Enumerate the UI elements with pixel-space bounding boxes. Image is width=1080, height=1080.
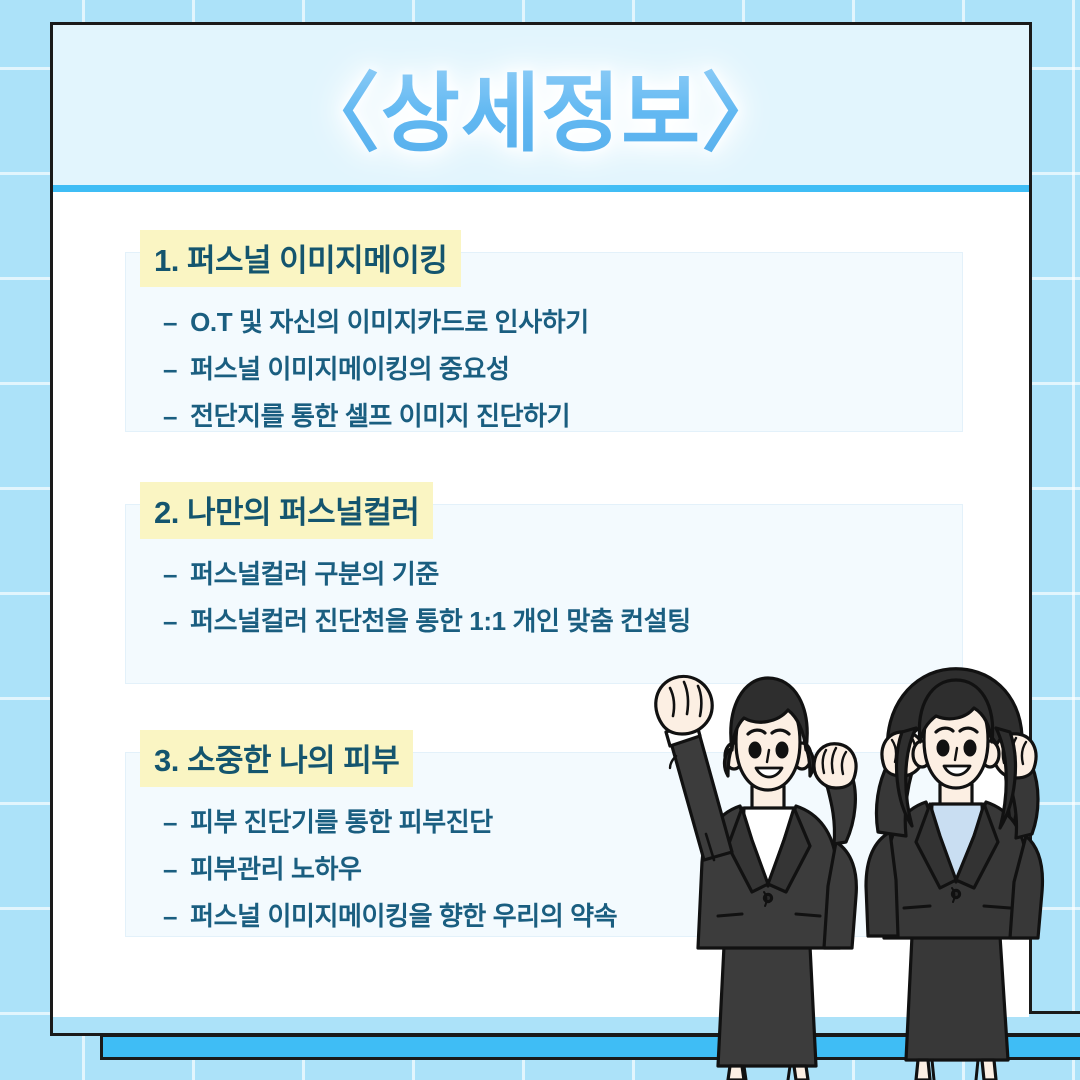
bullet-dash: – <box>163 561 177 587</box>
card-stack-bar-bright <box>100 1034 1080 1060</box>
bullet-text: O.T 및 자신의 이미지카드로 인사하기 <box>190 309 589 335</box>
card-header: 〈상세정보〉 <box>53 25 1029 185</box>
bullet-text: 퍼스널 이미지메이킹을 향한 우리의 약속 <box>190 903 617 929</box>
bullet-text: 피부관리 노하우 <box>190 856 361 882</box>
bullet-dash: – <box>163 809 177 835</box>
bullet-dash: – <box>163 903 177 929</box>
section-1: 1. 퍼스널 이미지메이킹 – O.T 및 자신의 이미지카드로 인사하기 – … <box>125 230 963 450</box>
card-body: 1. 퍼스널 이미지메이킹 – O.T 및 자신의 이미지카드로 인사하기 – … <box>53 192 1029 1017</box>
bullet-text: 퍼스널 이미지메이킹의 중요성 <box>190 356 509 382</box>
bullet-dash: – <box>163 856 177 882</box>
list-item: – 퍼스널 이미지메이킹의 중요성 <box>163 356 963 382</box>
section-1-bullets: – O.T 및 자신의 이미지카드로 인사하기 – 퍼스널 이미지메이킹의 중요… <box>125 309 963 429</box>
list-item: – 퍼스널컬러 구분의 기준 <box>163 561 963 587</box>
bullet-dash: – <box>163 309 177 335</box>
bullet-text: 전단지를 통한 셀프 이미지 진단하기 <box>190 403 570 429</box>
list-item: – 퍼스널 이미지메이킹을 향한 우리의 약속 <box>163 903 963 929</box>
bullet-text: 퍼스널컬러 구분의 기준 <box>190 561 439 587</box>
bullet-text: 피부 진단기를 통한 피부진단 <box>190 809 493 835</box>
section-2-bullets: – 퍼스널컬러 구분의 기준 – 퍼스널컬러 진단천을 통한 1:1 개인 맞춤… <box>125 561 963 634</box>
section-2-heading: 2. 나만의 퍼스널컬러 <box>140 482 433 539</box>
list-item: – 피부관리 노하우 <box>163 856 963 882</box>
list-item: – 전단지를 통한 셀프 이미지 진단하기 <box>163 403 963 429</box>
bullet-dash: – <box>163 608 177 634</box>
list-item: – 퍼스널컬러 진단천을 통한 1:1 개인 맞춤 컨설팅 <box>163 608 963 634</box>
section-3-heading: 3. 소중한 나의 피부 <box>140 730 413 787</box>
bullet-dash: – <box>163 403 177 429</box>
header-divider <box>53 185 1029 192</box>
bullet-dash: – <box>163 356 177 382</box>
section-1-heading: 1. 퍼스널 이미지메이킹 <box>140 230 461 287</box>
list-item: – O.T 및 자신의 이미지카드로 인사하기 <box>163 309 963 335</box>
list-item: – 피부 진단기를 통한 피부진단 <box>163 809 963 835</box>
section-2: 2. 나만의 퍼스널컬러 – 퍼스널컬러 구분의 기준 – 퍼스널컬러 진단천을… <box>125 482 963 655</box>
bullet-text: 퍼스널컬러 진단천을 통한 1:1 개인 맞춤 컨설팅 <box>190 608 691 634</box>
info-card: 〈상세정보〉 1. 퍼스널 이미지메이킹 – O.T 및 자신의 이미지카드로 … <box>50 22 1032 1014</box>
section-3-bullets: – 피부 진단기를 통한 피부진단 – 피부관리 노하우 – 퍼스널 이미지메이… <box>125 809 963 929</box>
section-3: 3. 소중한 나의 피부 – 피부 진단기를 통한 피부진단 – 피부관리 노하… <box>125 730 963 950</box>
page-title: 〈상세정보〉 <box>294 43 788 168</box>
